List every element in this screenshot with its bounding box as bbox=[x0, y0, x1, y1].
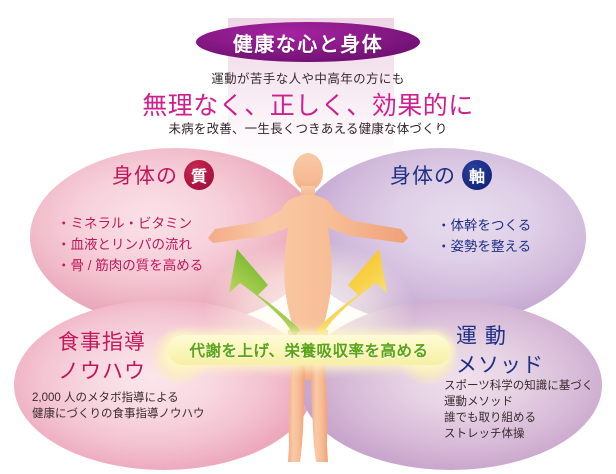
infographic-canvas: 健康な心と身体 運動が苦手な人や中高年の方にも 無理なく、正しく、効果的に 未病… bbox=[0, 0, 616, 474]
heading-exercise-method: 運 動 メソッド bbox=[456, 322, 544, 380]
note-exercise-method: スポーツ科学の知識に基づく 運動メソッド 誰でも取り組める ストレッチ体操 bbox=[444, 378, 593, 442]
kanji-badge-axis: 軸 bbox=[462, 160, 492, 190]
bullets-body-quality: ・ミネラル・ビタミン ・血液とリンパの流れ ・骨 / 筋肉の質を高める bbox=[57, 213, 203, 276]
headline: 無理なく、正しく、効果的に bbox=[0, 86, 616, 122]
subtitle-top: 運動が苦手な人や中高年の方にも bbox=[0, 68, 616, 87]
note-line: ストレッチ体操 bbox=[444, 426, 593, 442]
note-line: 2,000 人のメタボ指導による bbox=[32, 390, 205, 406]
note-diet-guidance: 2,000 人のメタボ指導による 健康にづくりの食事指導ノウハウ bbox=[32, 390, 205, 422]
main-title-badge: 健康な心と身体 bbox=[196, 22, 420, 62]
center-banner: 代謝を上げ、栄養吸収率を高める bbox=[168, 335, 450, 365]
heading-body-axis: 身体の 軸 bbox=[390, 160, 492, 190]
list-item: ・体幹をつくる bbox=[437, 215, 531, 236]
list-item: ・骨 / 筋肉の質を高める bbox=[57, 255, 203, 276]
note-line: 誰でも取り組める bbox=[444, 410, 593, 426]
heading-body-quality: 身体の 質 bbox=[112, 160, 214, 190]
heading-diet-guidance: 食事指導 ノウハウ bbox=[58, 328, 146, 386]
arrow-up-right-icon bbox=[316, 249, 387, 337]
list-item: ・ミネラル・ビタミン bbox=[57, 213, 203, 234]
heading-exercise-line2: メソッド bbox=[456, 351, 544, 380]
note-line: スポーツ科学の知識に基づく bbox=[444, 378, 593, 394]
heading-diet-line2: ノウハウ bbox=[58, 357, 146, 386]
kanji-badge-quality: 質 bbox=[184, 160, 214, 190]
heading-body-quality-prefix: 身体の bbox=[112, 160, 178, 190]
heading-diet-line1: 食事指導 bbox=[58, 328, 146, 357]
bullets-body-axis: ・体幹をつくる ・姿勢を整える bbox=[437, 215, 531, 257]
note-line: 運動メソッド bbox=[444, 394, 593, 410]
heading-body-axis-prefix: 身体の bbox=[390, 160, 456, 190]
subtitle-bottom: 未病を改善、一生長くつきあえる健康な体づくり bbox=[0, 118, 616, 137]
note-line: 健康にづくりの食事指導ノウハウ bbox=[32, 406, 205, 422]
center-banner-text: 代謝を上げ、栄養吸収率を高める bbox=[190, 339, 429, 361]
list-item: ・血液とリンパの流れ bbox=[57, 234, 203, 255]
arrow-up-left-icon bbox=[229, 249, 300, 337]
list-item: ・姿勢を整える bbox=[437, 236, 531, 257]
heading-exercise-line1: 運 動 bbox=[456, 322, 544, 351]
main-title-text: 健康な心と身体 bbox=[233, 28, 384, 57]
